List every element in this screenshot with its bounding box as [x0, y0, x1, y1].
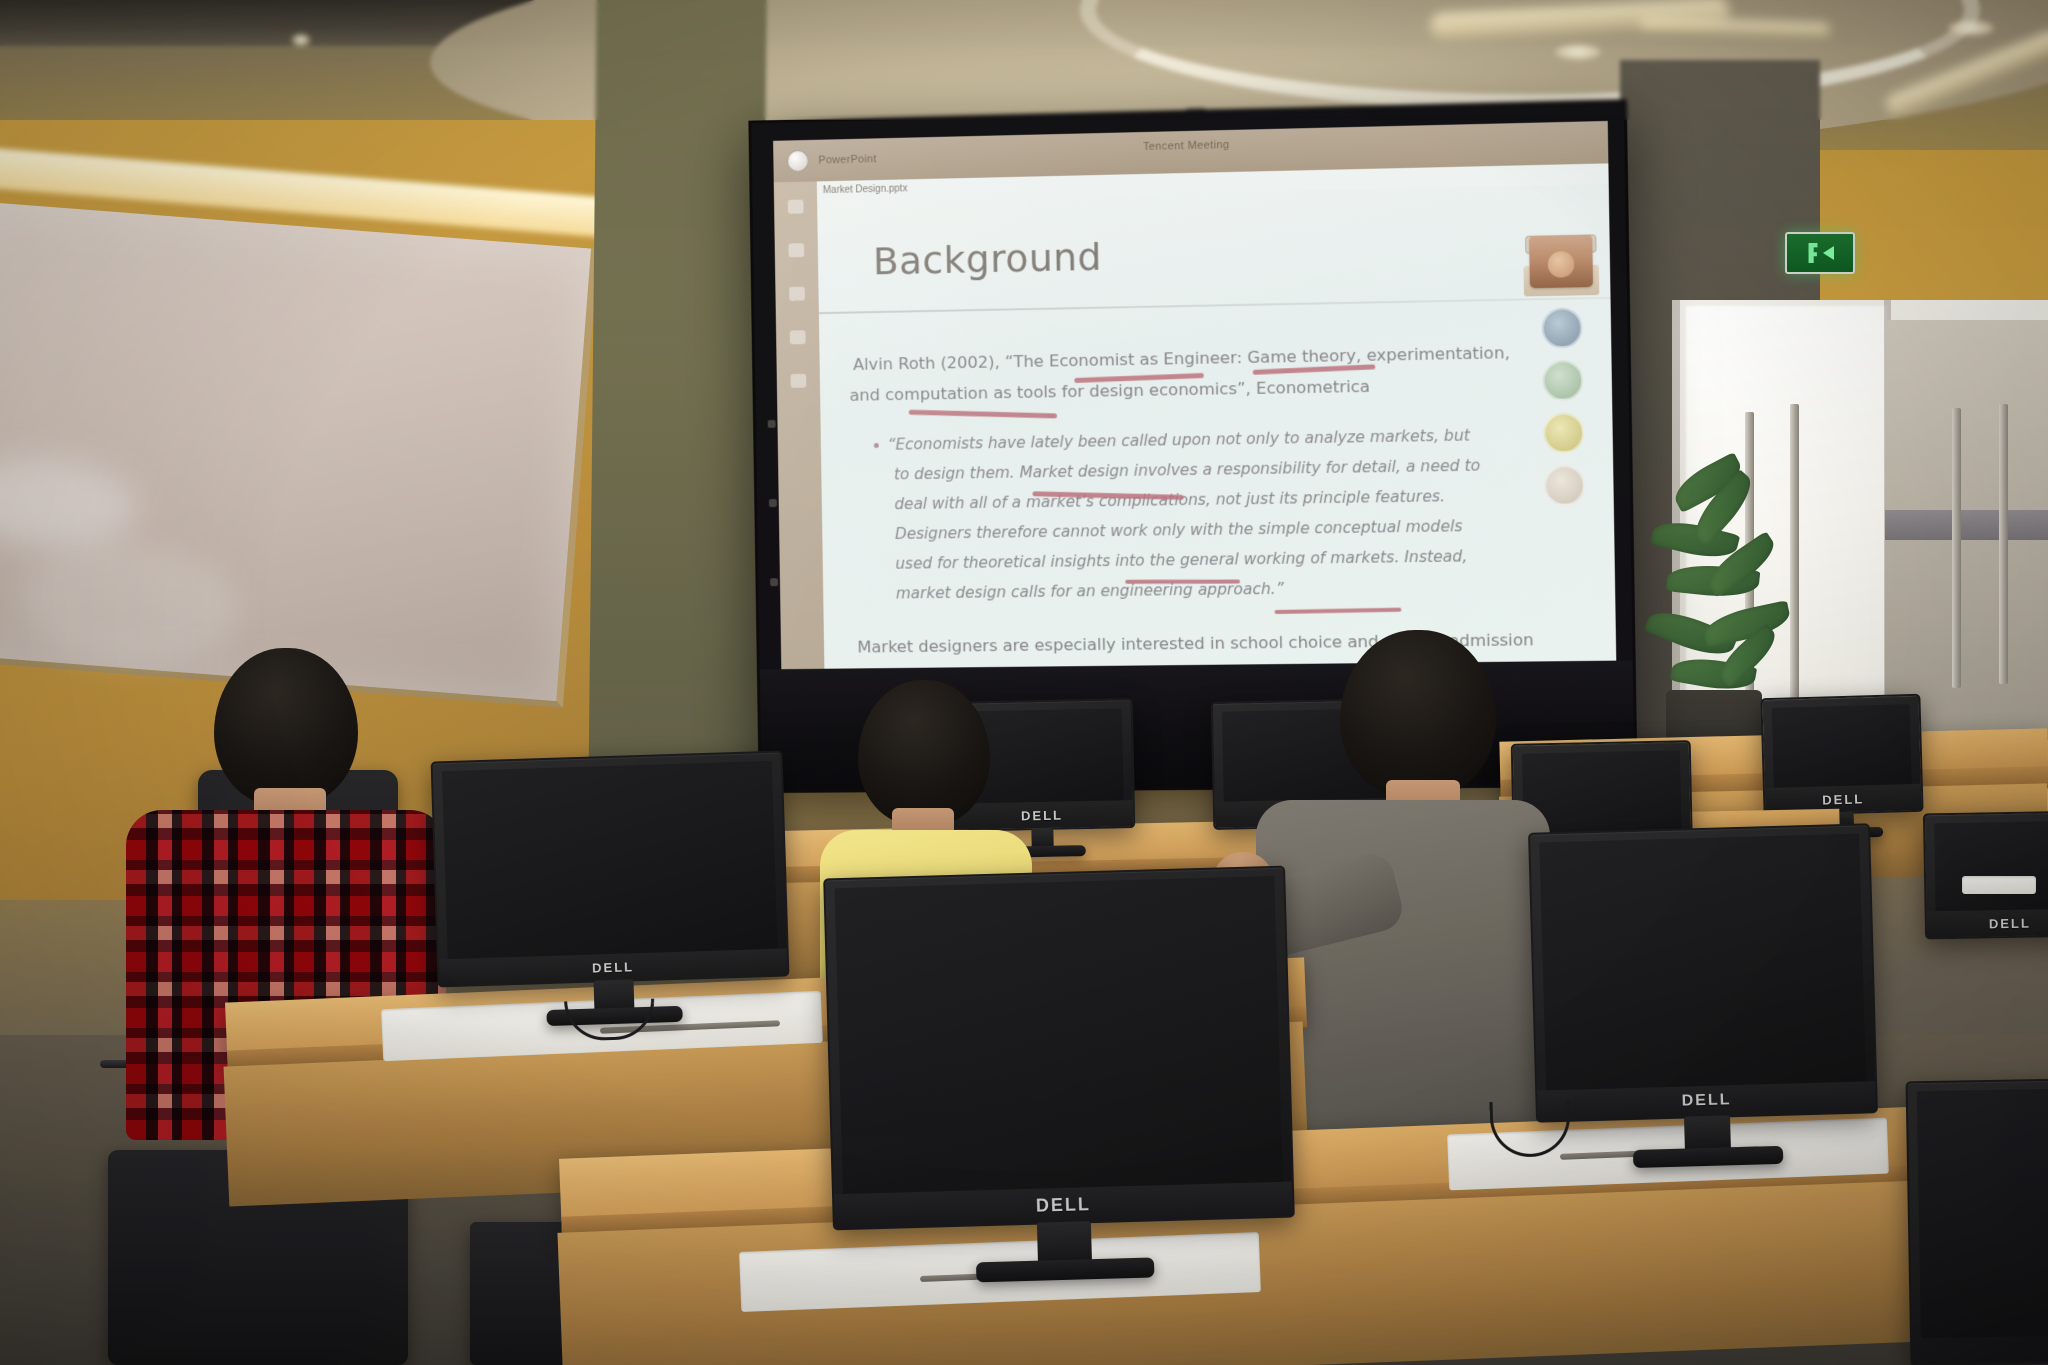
monitor-back-far-right[interactable]: DELL — [1923, 811, 2048, 940]
ceiling-downlight — [292, 34, 310, 46]
participant-avatar-teal[interactable] — [1542, 360, 1583, 401]
file-name-label: Market Design.pptx — [823, 183, 908, 196]
dell-logo: DELL — [1989, 915, 2031, 931]
monitor-row1-left[interactable]: DELL — [431, 751, 790, 988]
slide-title-divider — [819, 297, 1611, 314]
monitor-row1-center[interactable]: DELL — [823, 866, 1295, 1231]
monitor-foreground-edge[interactable] — [1906, 1079, 2048, 1365]
quotation-block: “Economists have lately been called upon… — [893, 418, 1597, 608]
screen-control-button[interactable] — [768, 420, 776, 428]
design-icon[interactable] — [790, 330, 806, 344]
slide-title: Background — [873, 235, 1103, 284]
dell-logo: DELL — [592, 959, 634, 975]
slide-canvas: Background Alvin Roth (2002), “The Econo… — [817, 184, 1616, 669]
exit-arrow-icon — [1823, 246, 1834, 260]
ceiling-downlight — [1555, 44, 1601, 60]
whiteboard — [0, 200, 598, 708]
dell-logo: DELL — [1681, 1091, 1731, 1110]
screen-control-button[interactable] — [769, 499, 777, 507]
toolbar-label: PowerPoint — [818, 153, 876, 166]
quote-line-text: “Economists have lately been called upon… — [888, 426, 1471, 453]
view-icon[interactable] — [790, 374, 806, 388]
classroom-photo: PowerPoint Tencent Meeting Market Design… — [0, 0, 2048, 1365]
presentation-toolbar[interactable]: PowerPoint Tencent Meeting — [773, 121, 1608, 182]
slide-body: Alvin Roth (2002), “The Economist as Eng… — [853, 336, 1598, 663]
corridor-wall-band — [1885, 510, 2048, 540]
meeting-title: Tencent Meeting — [1143, 139, 1230, 153]
bullet-icon — [874, 443, 879, 448]
monitor-row1-right[interactable]: DELL — [1528, 823, 1878, 1122]
handrail-post — [1952, 408, 1961, 688]
head — [1340, 630, 1496, 798]
insert-icon[interactable] — [788, 243, 804, 257]
monitor-back-right[interactable]: DELL — [1760, 694, 1923, 816]
dell-logo: DELL — [1822, 791, 1864, 807]
running-man-exit-icon — [1806, 243, 1820, 263]
video-conference-panel[interactable] — [1518, 234, 1609, 601]
home-icon[interactable] — [788, 200, 804, 214]
participant-avatar-blue[interactable] — [1541, 307, 1582, 348]
ceiling-downlight — [1948, 20, 1994, 36]
projected-image: PowerPoint Tencent Meeting Market Design… — [773, 121, 1616, 669]
head — [214, 648, 358, 806]
screen-control-button[interactable] — [770, 578, 778, 586]
participant-video-thumbnail[interactable] — [1529, 234, 1593, 288]
participant-avatar-yellow[interactable] — [1543, 412, 1584, 453]
exit-sign — [1785, 232, 1855, 274]
dell-logo: DELL — [1036, 1194, 1092, 1217]
app-logo-icon — [787, 150, 809, 172]
participant-avatar-plain[interactable] — [1544, 465, 1585, 506]
annotation-underline — [1125, 580, 1240, 584]
draw-icon[interactable] — [789, 287, 805, 301]
handrail-post — [1999, 404, 2008, 684]
desk-item — [1962, 876, 2036, 894]
presentation-side-rail[interactable] — [774, 181, 825, 669]
head — [858, 680, 990, 826]
